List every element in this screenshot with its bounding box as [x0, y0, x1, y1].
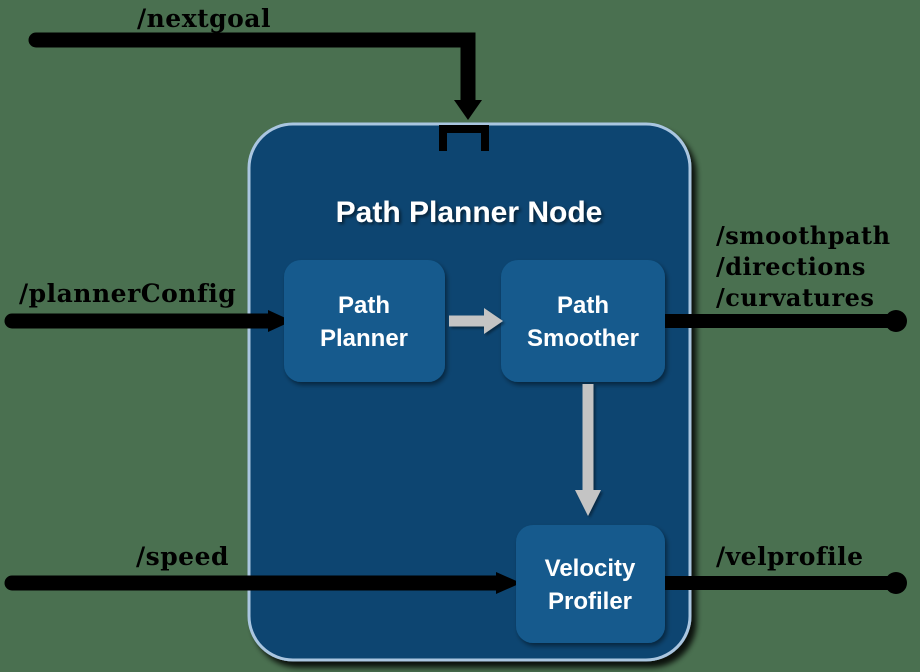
- box-path-smoother-label-line1: Path: [557, 292, 609, 319]
- box-velocity-profiler-label-line1: Velocity: [545, 555, 636, 582]
- page-title: Path Planner Node: [336, 196, 603, 229]
- box-path-planner-label-line2: Planner: [320, 325, 408, 352]
- box-path-smoother[interactable]: Path Smoother: [501, 260, 665, 382]
- label-plannerConfig: /plannerConfig: [19, 279, 236, 308]
- label-curvatures: /curvatures: [716, 283, 874, 312]
- label-velprofile: /velprofile: [716, 542, 864, 571]
- box-velocity-profiler[interactable]: Velocity Profiler: [516, 525, 665, 643]
- label-nextgoal: /nextgoal: [137, 4, 271, 33]
- label-speed: /speed: [136, 542, 229, 571]
- diagram-canvas: Path Planner Path Smoother Velocity Prof…: [0, 0, 920, 672]
- label-directions: /directions: [716, 252, 866, 281]
- box-velocity-profiler-label-line2: Profiler: [548, 588, 632, 615]
- box-path-planner-label-line1: Path: [338, 292, 390, 319]
- box-path-planner[interactable]: Path Planner: [284, 260, 445, 382]
- box-path-smoother-label-line2: Smoother: [527, 325, 639, 352]
- label-smoothpath: /smoothpath: [716, 221, 891, 250]
